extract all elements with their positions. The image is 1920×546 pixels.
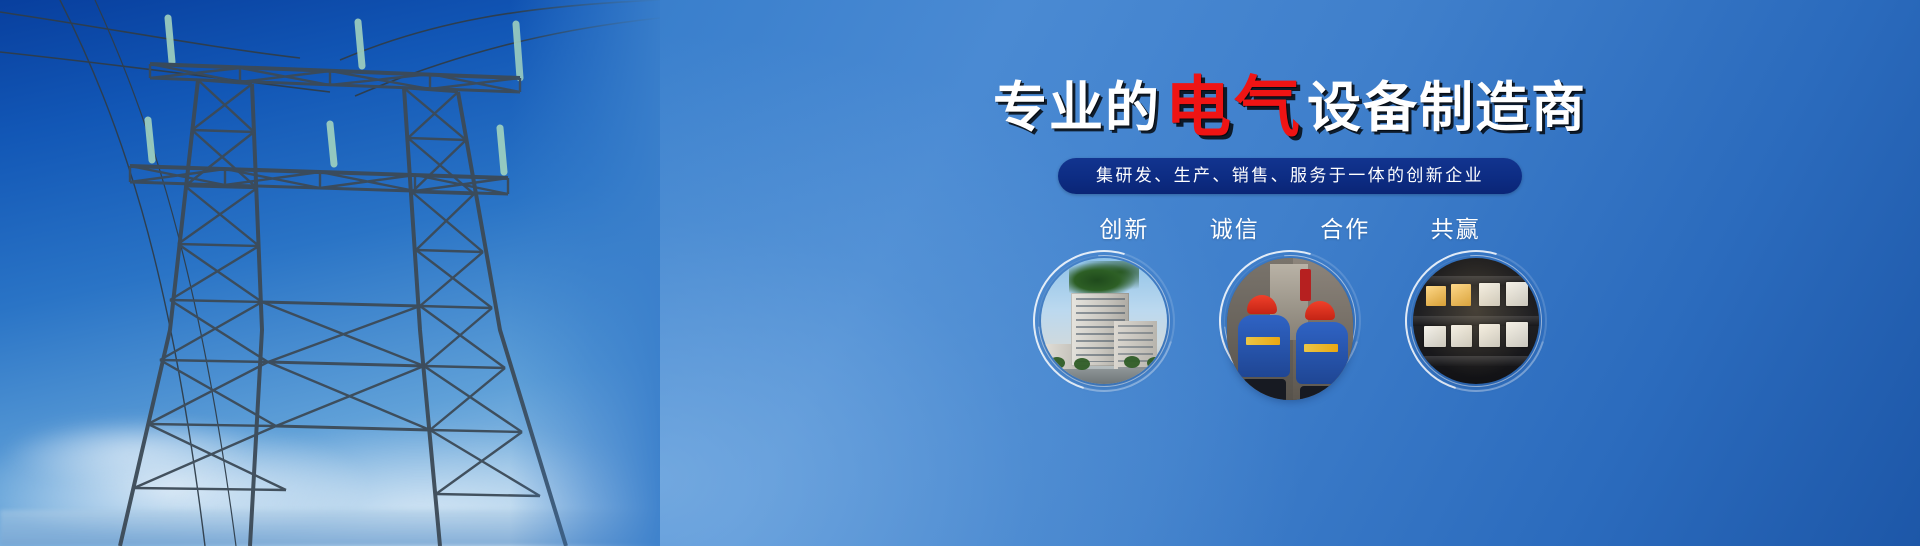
keyword-item-integrity: 诚信 <box>1210 210 1260 244</box>
headline-accent: 电气 <box>1161 70 1307 144</box>
photo-circle-list: 公司办公大楼 <box>660 258 1920 438</box>
photo-circle-item: 公司办公大楼 <box>1041 258 1167 438</box>
photo-circle-item: 身穿蓝色工服戴红色安全帽的工人在配电柜前作业 <box>1227 258 1353 438</box>
tree <box>1049 357 1065 369</box>
banner-content: 专业的电气设备制造商 集研发、生产、销售、服务于一体的创新企业 创新 诚信 合作… <box>660 0 1920 546</box>
subtitle-pill: 集研发、生产、销售、服务于一体的创新企业 <box>1058 158 1522 194</box>
subtitle-text: 集研发、生产、销售、服务于一体的创新企业 <box>1096 166 1484 185</box>
worker-uniform <box>1238 315 1290 377</box>
worker-uniform <box>1296 322 1348 384</box>
fire-extinguisher <box>1300 269 1311 300</box>
headline-suffix: 设备制造商 <box>1307 78 1587 138</box>
worker-legs <box>1242 379 1286 400</box>
tree <box>1147 357 1163 369</box>
transmission-tower-photo <box>0 0 660 546</box>
showroom-shelf-photo: 展厅陈列架上的产品展板 <box>1413 258 1539 384</box>
light-glow <box>1413 258 1539 384</box>
hero-banner: 专业的电气设备制造商 集研发、生产、销售、服务于一体的创新企业 创新 诚信 合作… <box>0 0 1920 546</box>
road <box>1041 369 1167 384</box>
tree <box>1124 356 1140 368</box>
pylon-structure-icon <box>0 0 660 546</box>
tree-foliage <box>1069 261 1140 294</box>
worker-legs <box>1300 386 1344 400</box>
office-building-photo: 公司办公大楼 <box>1041 258 1167 384</box>
headline-prefix: 专业的 <box>993 78 1161 138</box>
keyword-list: 创新 诚信 合作 共赢 <box>660 210 1920 244</box>
keyword-item-winwin: 共赢 <box>1431 210 1481 244</box>
keyword-item-innovation: 创新 <box>1099 210 1149 244</box>
workers-photo: 身穿蓝色工服戴红色安全帽的工人在配电柜前作业 <box>1227 258 1353 400</box>
keyword-item-cooperation: 合作 <box>1320 210 1370 244</box>
photo-circle-item: 展厅陈列架上的产品展板 <box>1413 258 1539 438</box>
tree <box>1074 358 1090 370</box>
page-title: 专业的电气设备制造商 <box>660 74 1920 140</box>
